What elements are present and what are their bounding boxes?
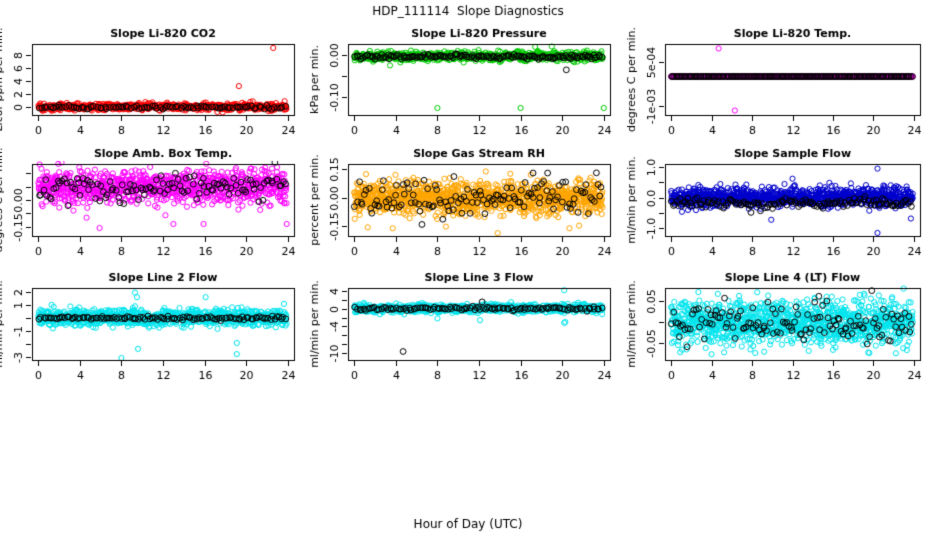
slope-diagnostics-figure bbox=[0, 0, 936, 540]
figure-canvas-stage: HDP_111114 Slope Diagnostics Hour of Day… bbox=[0, 0, 936, 540]
